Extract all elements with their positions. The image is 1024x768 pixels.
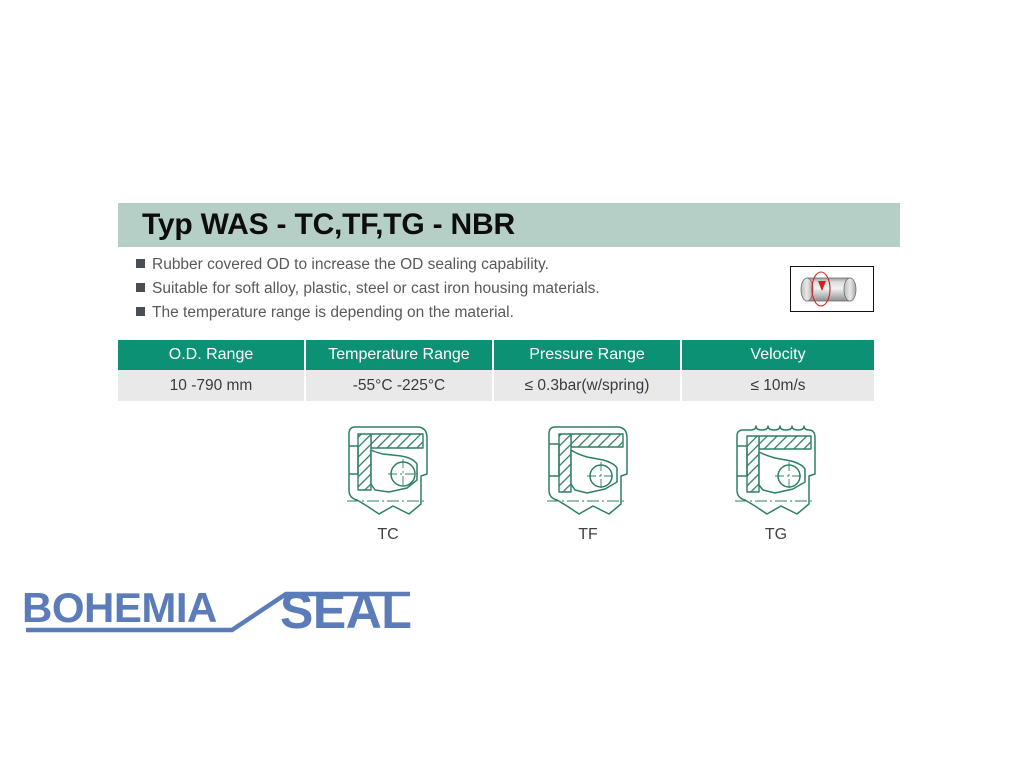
cell-od-range: 10 -790 mm: [118, 370, 306, 401]
logo-text-bohemia: BOHEMIA: [22, 584, 217, 631]
feature-text: Suitable for soft alloy, plastic, steel …: [152, 280, 600, 298]
column-header-od-range: O.D. Range: [118, 340, 306, 370]
table-row: 10 -790 mm -55°C -225°C ≤ 0.3bar(w/sprin…: [118, 370, 874, 401]
square-bullet-icon: [136, 283, 145, 292]
table-header-row: O.D. Range Temperature Range Pressure Ra…: [118, 340, 874, 370]
seal-label-tg: TG: [706, 526, 846, 544]
bohemia-seal-logo: BOHEMIA SEAL: [18, 578, 418, 648]
feature-text: The temperature range is depending on th…: [152, 304, 514, 322]
list-item: Suitable for soft alloy, plastic, steel …: [136, 280, 756, 302]
logo-text-seal: SEAL: [280, 583, 411, 639]
column-header-pressure-range: Pressure Range: [494, 340, 682, 370]
seal-cross-section-tg-icon: [715, 418, 837, 522]
square-bullet-icon: [136, 259, 145, 268]
feature-list: Rubber covered OD to increase the OD sea…: [136, 256, 756, 328]
specification-table: O.D. Range Temperature Range Pressure Ra…: [118, 340, 874, 401]
seal-cross-section-tf-icon: [527, 418, 649, 522]
seal-cross-section-tc-icon: [327, 418, 449, 522]
column-header-velocity: Velocity: [682, 340, 874, 370]
seal-label-tc: TC: [318, 526, 458, 544]
seal-diagram-tg: TG: [706, 418, 846, 553]
seal-diagram-tf: TF: [518, 418, 658, 553]
cell-temperature-range: -55°C -225°C: [306, 370, 494, 401]
page-title: Typ WAS - TC,TF,TG - NBR: [142, 208, 515, 242]
seal-label-tf: TF: [518, 526, 658, 544]
title-banner: Typ WAS - TC,TF,TG - NBR: [118, 203, 900, 247]
seal-diagram-gallery: TC TF: [118, 418, 874, 553]
cell-velocity: ≤ 10m/s: [682, 370, 874, 401]
list-item: The temperature range is depending on th…: [136, 304, 756, 326]
cell-pressure-range: ≤ 0.3bar(w/spring): [494, 370, 682, 401]
column-header-temperature-range: Temperature Range: [306, 340, 494, 370]
seal-diagram-tc: TC: [318, 418, 458, 553]
feature-text: Rubber covered OD to increase the OD sea…: [152, 256, 549, 274]
rotating-shaft-icon: [790, 266, 874, 312]
list-item: Rubber covered OD to increase the OD sea…: [136, 256, 756, 278]
square-bullet-icon: [136, 307, 145, 316]
